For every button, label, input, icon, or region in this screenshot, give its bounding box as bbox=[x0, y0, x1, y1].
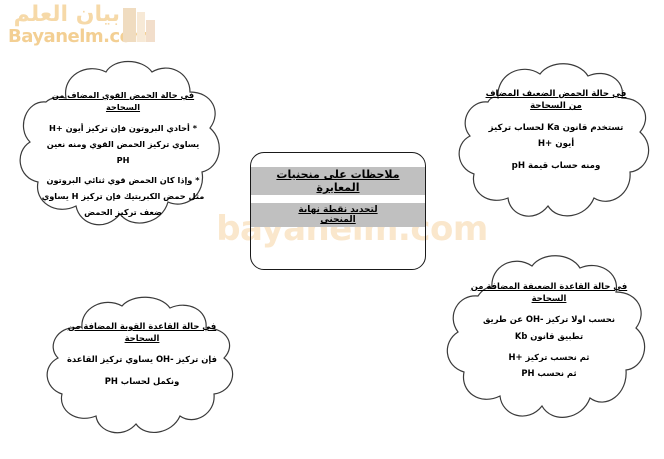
cloud-strong-acid-line-5: مثل حمض الكبريتيك فإن تركيز H يساوي bbox=[40, 191, 206, 203]
cloud-weak-acid-line-1: تستخدم قانون Ka لحساب تركيز bbox=[480, 122, 632, 134]
cloud-weak-base-text: في حالة القاعدة الضعيفة المضافة من السحا… bbox=[468, 280, 630, 383]
cloud-weak-acid: في حالة الحمض الضعيف المضاف من السحاحة ت… bbox=[452, 58, 658, 234]
cloud-strong-base-text: في حالة القاعدة القوية المضافة من السحاح… bbox=[58, 320, 226, 391]
cloud-weak-acid-text: في حالة الحمض الضعيف المضاف من السحاحة ت… bbox=[480, 88, 632, 176]
watermark-arabic-text: بيان العلم bbox=[14, 2, 120, 27]
cloud-weak-acid-title: في حالة الحمض الضعيف المضاف من السحاحة bbox=[480, 88, 632, 113]
book-icon bbox=[122, 6, 156, 46]
cloud-weak-base: في حالة القاعدة الضعيفة المضافة من السحا… bbox=[442, 252, 658, 438]
cloud-weak-base-line-4: ثم نحسب PH bbox=[468, 367, 630, 379]
cloud-strong-acid-line-4: * وإذا كان الحمض قوي ثنائي البروتون bbox=[40, 175, 206, 187]
cloud-strong-base-title: في حالة القاعدة القوية المضافة من السحاح… bbox=[58, 320, 226, 344]
center-box-subtitle: لتحديد نقطة نهاية المنحنى bbox=[251, 203, 425, 227]
center-topic-box: ملاحظات على منحنيات المعايرة لتحديد نقطة… bbox=[250, 152, 426, 270]
cloud-strong-base: في حالة القاعدة القوية المضافة من السحاح… bbox=[34, 294, 246, 444]
cloud-strong-acid-line-6: ضعف تركيز الحمض bbox=[40, 207, 206, 219]
cloud-weak-acid-line-3: ومنه حساب قيمة pH bbox=[480, 160, 632, 172]
diagram-canvas: بيان العلم Bayanelm.com bayanelm.com في … bbox=[0, 0, 664, 459]
center-box-title: ملاحظات على منحنيات المعايرة bbox=[251, 167, 425, 195]
watermark-english-text: Bayanelm.com bbox=[8, 26, 150, 47]
cloud-weak-acid-line-2: أيون +H bbox=[480, 138, 632, 150]
center-box-title-row: ملاحظات على منحنيات المعايرة bbox=[251, 167, 425, 195]
cloud-weak-base-line-3: ثم نحسب تركيز +H bbox=[468, 351, 630, 363]
cloud-weak-base-line-1: نحسب اولا تركيز -OH عن طريق bbox=[468, 313, 630, 325]
cloud-strong-base-line-1: فإن تركيز -OH يساوي تركيز القاعدة bbox=[58, 353, 226, 365]
cloud-weak-base-line-2: تطبيق قانون Kb bbox=[468, 330, 630, 342]
cloud-strong-acid-line-1: * أحادي البروتون فإن تركيز أيون +H bbox=[40, 123, 206, 135]
cloud-strong-acid-text: في حالة الحمض القوي المضاف من السحاحة * … bbox=[40, 90, 206, 223]
site-watermark-logo: بيان العلم Bayanelm.com bbox=[6, 2, 156, 50]
center-box-subtitle-row: لتحديد نقطة نهاية المنحنى bbox=[251, 203, 425, 227]
cloud-weak-base-title: في حالة القاعدة الضعيفة المضافة من السحا… bbox=[468, 280, 630, 304]
cloud-strong-acid-line-3: PH bbox=[40, 155, 206, 167]
cloud-strong-base-line-2: ونكمل لحساب PH bbox=[58, 375, 226, 387]
cloud-strong-acid: في حالة الحمض القوي المضاف من السحاحة * … bbox=[14, 58, 230, 244]
cloud-strong-acid-title: في حالة الحمض القوي المضاف من السحاحة bbox=[40, 90, 206, 114]
cloud-strong-acid-line-2: يساوي تركيز الحمض القوي ومنه نعين bbox=[40, 139, 206, 151]
